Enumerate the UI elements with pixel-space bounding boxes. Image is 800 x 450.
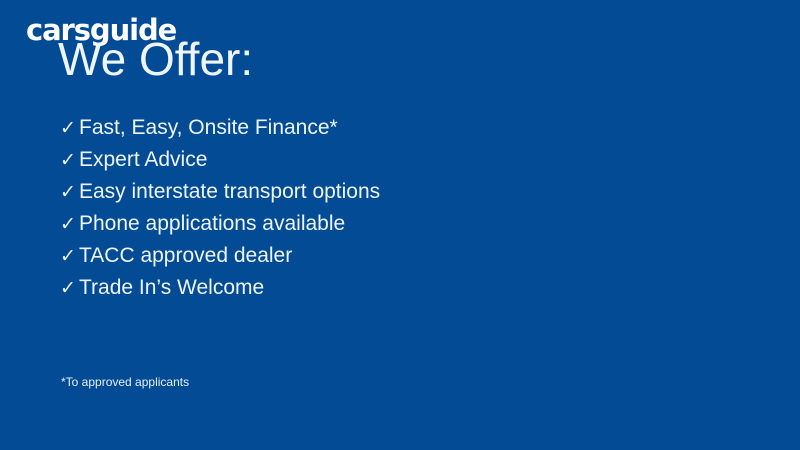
check-icon: ✓ [60,241,79,273]
list-item-label: TACC approved dealer [79,240,292,272]
presentation-slide: carsguide We Offer: ✓ Fast, Easy, Onsite… [0,0,800,450]
list-item: ✓ Expert Advice [60,144,660,176]
list-item-label: Easy interstate transport options [79,176,380,208]
check-icon: ✓ [60,145,79,177]
list-item-label: Expert Advice [79,144,207,176]
list-item-label: Trade In’s Welcome [79,272,264,304]
list-item: ✓ TACC approved dealer [60,240,660,272]
check-icon: ✓ [60,177,79,209]
list-item: ✓ Trade In’s Welcome [60,272,660,304]
check-icon: ✓ [60,273,79,305]
offer-list: ✓ Fast, Easy, Onsite Finance* ✓ Expert A… [60,112,660,304]
list-item: ✓ Easy interstate transport options [60,176,660,208]
list-item-label: Phone applications available [79,208,345,240]
check-icon: ✓ [60,209,79,241]
footnote-disclaimer: *To approved applicants [61,374,189,390]
list-item: ✓ Phone applications available [60,208,660,240]
check-icon: ✓ [60,113,79,145]
list-item-label: Fast, Easy, Onsite Finance* [79,112,338,144]
page-title: We Offer: [58,33,253,85]
list-item: ✓ Fast, Easy, Onsite Finance* [60,112,660,144]
